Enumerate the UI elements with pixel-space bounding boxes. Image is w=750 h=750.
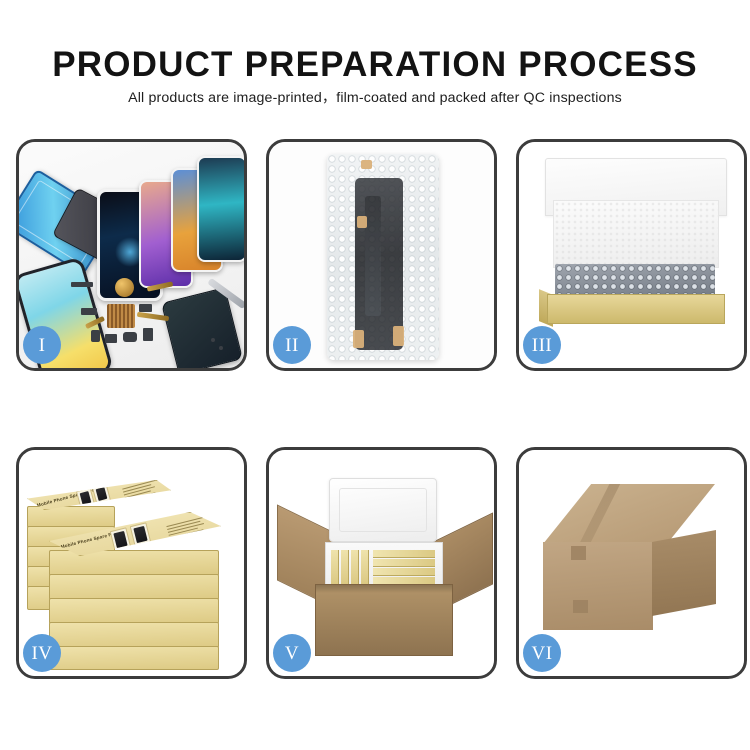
phone-screen-teal-icon [197,156,244,262]
box-window-icon [110,527,132,551]
tape-icon [357,216,367,228]
box-spec-lines [122,480,160,506]
bubble-wrap-icon [327,154,439,360]
screw-icon [211,338,215,342]
kraft-box-icon [49,598,219,624]
step-badge-2: II [273,326,311,364]
carton-front-icon [543,542,653,630]
chip-icon [71,282,93,287]
step-badge-3: III [523,326,561,364]
process-step-6: VI [516,447,747,679]
product-preparation-infographic: PRODUCT PREPARATION PROCESS All products… [0,0,750,750]
kraft-box-icon [49,646,219,670]
chip-icon [105,334,117,343]
chip-icon [81,308,97,315]
box-window-icon [130,522,152,546]
carton-top-icon [543,484,715,544]
box-spec-lines [166,516,209,543]
step-badge-5: V [273,634,311,672]
process-steps-grid: I II III [16,139,738,735]
tape-icon [361,160,372,169]
kraft-box-icon [49,550,219,576]
foam-lid-icon [329,478,437,542]
step-badge-4: IV [23,634,61,672]
screw-icon [219,346,223,350]
kraft-box-icon [27,506,115,528]
process-step-5: V [266,447,497,679]
box-window-icon [92,483,111,504]
kraft-box-icon [49,574,219,600]
carton-tape-icon [571,546,586,560]
step-badge-1: I [23,326,61,364]
foam-sheet-icon [553,200,719,268]
tape-icon [353,330,364,348]
process-step-3: III [516,139,747,371]
step-badge-6: VI [523,634,561,672]
chip-icon [139,304,152,312]
bubble-wrap-contents-icon [555,264,715,296]
process-step-1: I [16,139,247,371]
chip-icon [143,328,153,341]
chip-icon [91,330,100,342]
packed-kraft-boxes-icon [331,550,435,588]
kraft-box-icon [49,622,219,648]
tape-icon [393,326,404,346]
process-step-2: II [266,139,497,371]
carton-tape-icon [573,600,588,613]
page-subtitle: All products are image-printed，film-coat… [0,88,750,108]
page-title: PRODUCT PREPARATION PROCESS [0,44,750,86]
carton-body-icon [315,584,453,656]
speaker-coil-icon [115,278,134,297]
component-tray-icon [107,304,135,328]
wrapped-screen-icon [355,178,403,350]
carton-side-icon [652,530,716,616]
chip-icon [123,332,137,342]
kraft-box-front-icon [547,294,725,324]
process-step-4: Mobile Phone Spare Parts Mobile Phone S [16,447,247,679]
